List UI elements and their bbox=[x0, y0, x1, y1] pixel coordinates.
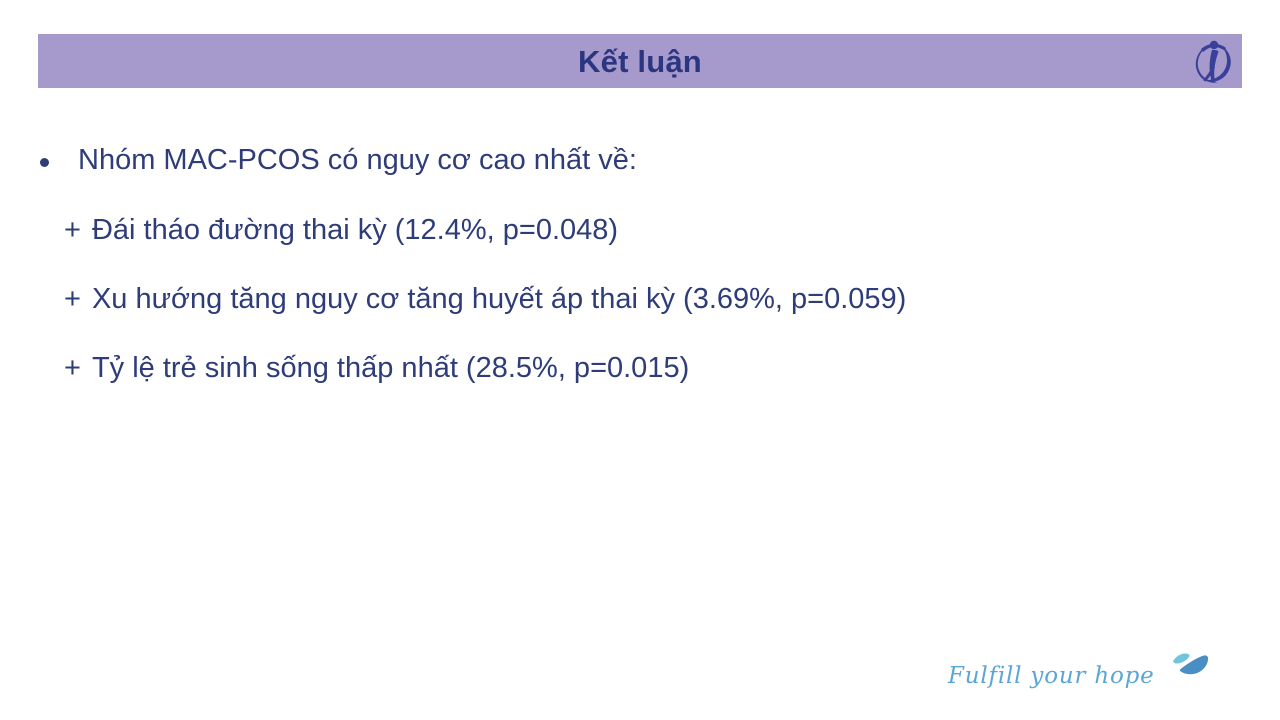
list-item: + Xu hướng tăng nguy cơ tăng huyết áp th… bbox=[0, 281, 1280, 318]
plus-marker-icon: + bbox=[64, 281, 81, 318]
plus-marker-icon: + bbox=[64, 212, 81, 249]
body-content: Nhóm MAC-PCOS có nguy cơ cao nhất về: + … bbox=[0, 142, 1280, 419]
footer-brand: Fulfill your hope bbox=[948, 624, 1210, 700]
title-bar: Kết luận bbox=[38, 34, 1242, 88]
list-item-label: Đái tháo đường thai kỳ (12.4%, p=0.048) bbox=[92, 212, 618, 249]
tagline-text: Fulfill your hope bbox=[948, 663, 1155, 689]
slide-root: Kết luận Nhóm MAC-PCOS có nguy cơ cao nh… bbox=[0, 0, 1280, 720]
list-item: Nhóm MAC-PCOS có nguy cơ cao nhất về: bbox=[0, 142, 1280, 179]
two-leaf-logo bbox=[1171, 627, 1210, 699]
plus-marker-icon: + bbox=[64, 350, 81, 387]
list-item-label: Xu hướng tăng nguy cơ tăng huyết áp thai… bbox=[92, 281, 906, 318]
dancing-figure-logo bbox=[1190, 35, 1236, 87]
list-item-label: Nhóm MAC-PCOS có nguy cơ cao nhất về: bbox=[78, 142, 637, 179]
list-item: + Tỷ lệ trẻ sinh sống thấp nhất (28.5%, … bbox=[0, 350, 1280, 387]
bullet-dot-icon bbox=[40, 158, 49, 167]
list-item-label: Tỷ lệ trẻ sinh sống thấp nhất (28.5%, p=… bbox=[92, 350, 689, 387]
page-title: Kết luận bbox=[578, 46, 702, 77]
list-item: + Đái tháo đường thai kỳ (12.4%, p=0.048… bbox=[0, 212, 1280, 249]
